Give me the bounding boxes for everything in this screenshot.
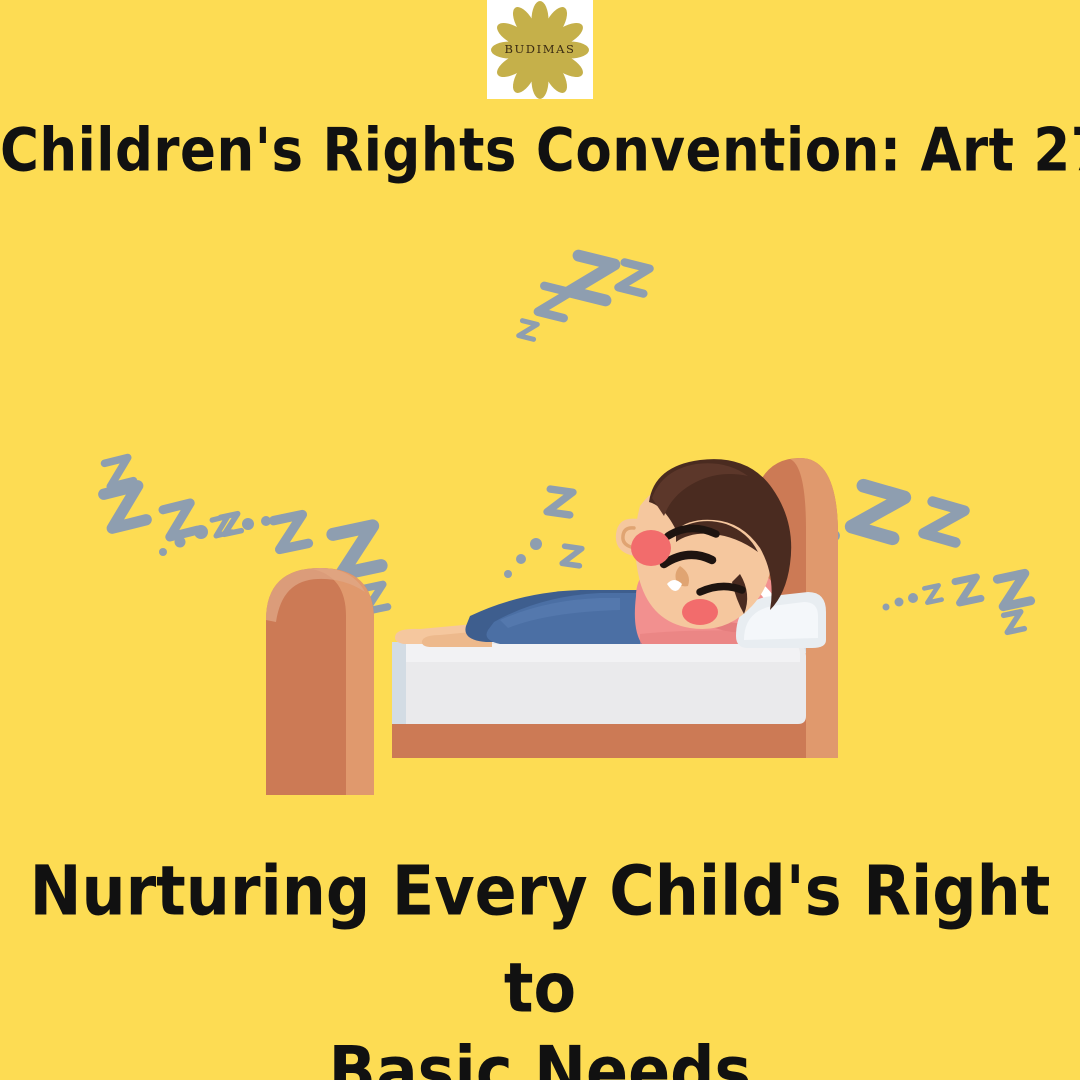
child-cheek-far: [631, 530, 671, 566]
tagline-line-2: Basic Needs: [0, 1024, 1080, 1080]
budimas-logo-svg: BUDIMAS: [487, 0, 593, 99]
snore-right: [883, 573, 1031, 632]
child-cheek-near: [682, 599, 718, 625]
page-title: Children's Rights Convention: Art 27: [0, 121, 1080, 180]
budimas-logo: BUDIMAS: [487, 0, 593, 99]
bed-footboard: [266, 568, 374, 795]
sleeping-child-illustration: [0, 230, 1080, 830]
mattress: [392, 642, 806, 724]
snore-mid-center: [547, 489, 582, 566]
logo-wordmark: BUDIMAS: [504, 42, 575, 56]
poster-canvas: BUDIMAS Children's Rights Convention: Ar…: [0, 0, 1080, 1080]
tagline-line-1: Nurturing Every Child's Right to: [0, 843, 1080, 1037]
illustration-svg: [0, 230, 1080, 830]
tagline: Nurturing Every Child's Right to Basic N…: [0, 852, 1080, 1080]
sleeping-child: [395, 459, 826, 648]
snore-mid-left: [104, 458, 287, 537]
